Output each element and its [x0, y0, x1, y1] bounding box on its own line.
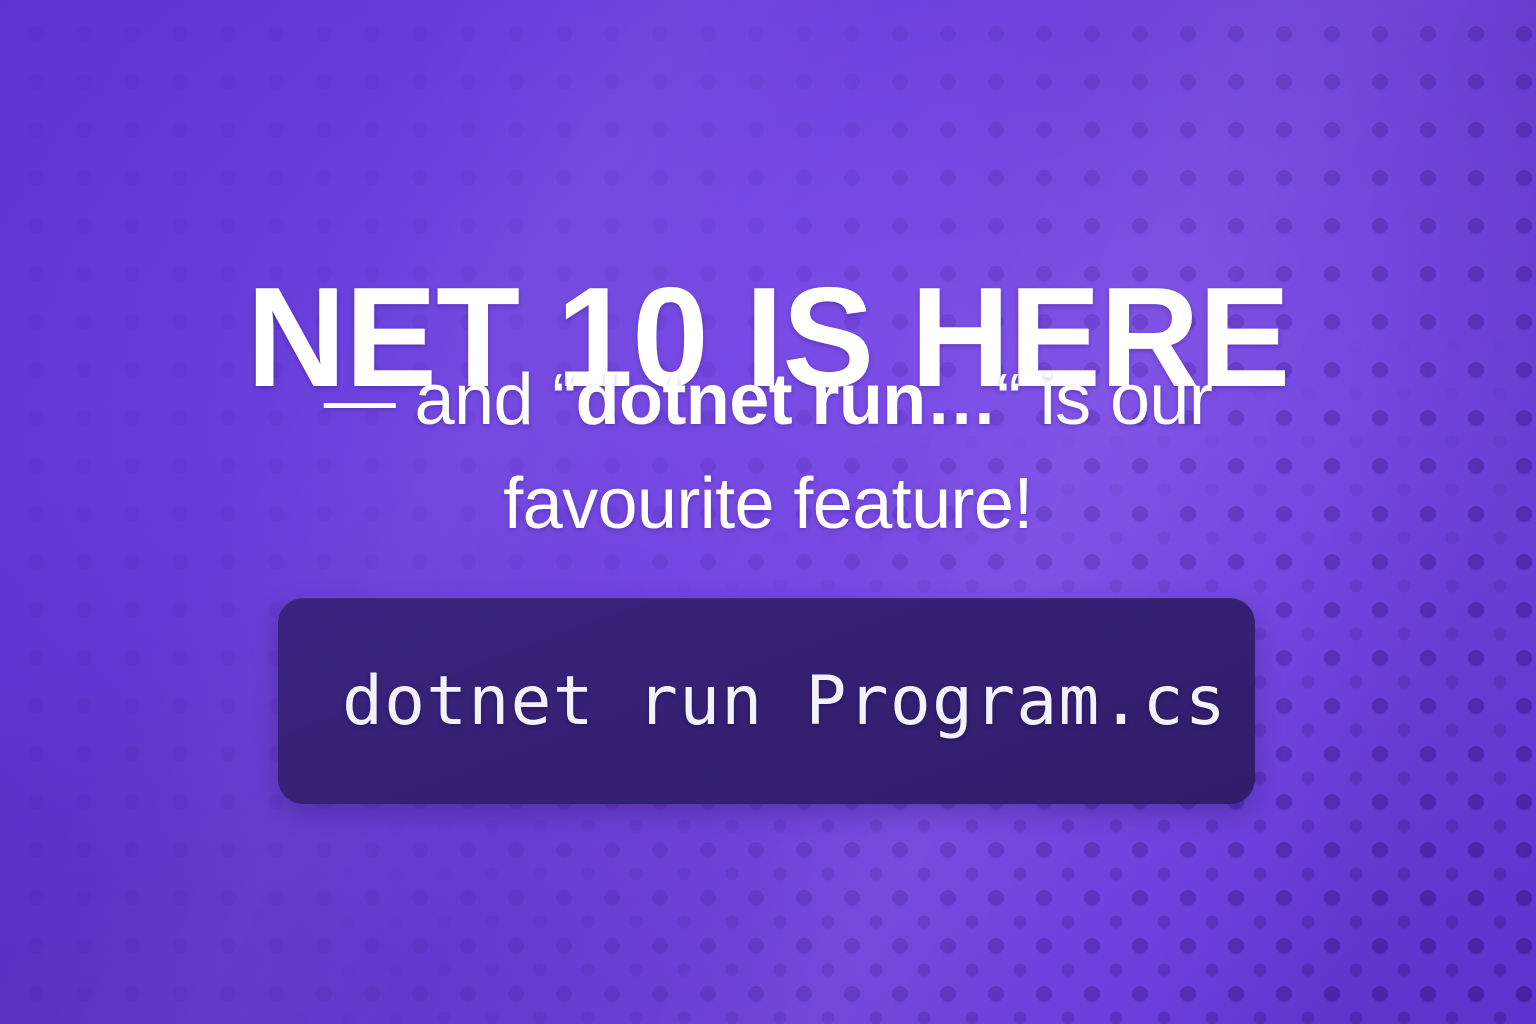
code-snippet-box: dotnet run Program.cs [278, 598, 1255, 804]
subtitle-line-2: favourite feature! [0, 452, 1536, 556]
banner-content: NET 10 IS HERE — and “dotnet run…“ is ou… [0, 0, 1536, 1024]
subtitle-line-1-prefix: — and “ [324, 360, 576, 440]
code-snippet-text: dotnet run Program.cs [278, 662, 1227, 741]
subtitle-line-1: — and “dotnet run…“ is our [0, 348, 1536, 452]
subtitle-line-1-emphasis: dotnet run… [576, 360, 997, 440]
subtitle-line-1-suffix: “ is our [997, 360, 1212, 440]
subtitle: — and “dotnet run…“ is our favourite fea… [0, 348, 1536, 556]
promo-banner: NET 10 IS HERE — and “dotnet run…“ is ou… [0, 0, 1536, 1024]
